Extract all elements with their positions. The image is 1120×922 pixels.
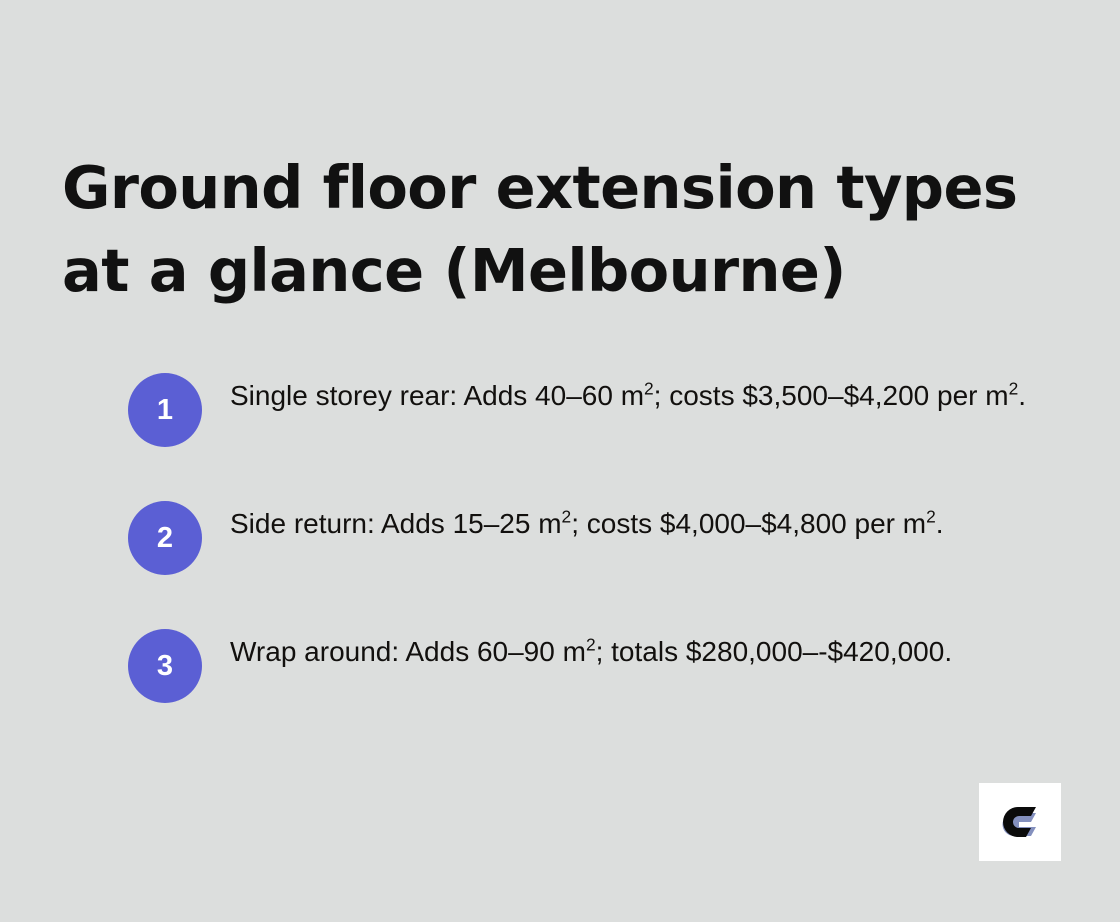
list-item: 1 Single storey rear: Adds 40–60 m2; cos… <box>128 372 1063 447</box>
superscript-two: 2 <box>562 507 572 527</box>
list-item-badge-1: 1 <box>128 373 202 447</box>
list-item-text-3: Wrap around: Adds 60–90 m2; totals $280,… <box>230 628 952 674</box>
list-item-text-2: Side return: Adds 15–25 m2; costs $4,000… <box>230 500 944 546</box>
list-item-text-1: Single storey rear: Adds 40–60 m2; costs… <box>230 372 1026 418</box>
item-text-part: Single storey rear: Adds 40–60 m <box>230 380 644 411</box>
superscript-two: 2 <box>926 507 936 527</box>
superscript-two: 2 <box>1009 379 1019 399</box>
list-item-badge-3: 3 <box>128 629 202 703</box>
superscript-two: 2 <box>644 379 654 399</box>
item-text-part: ; costs $3,500–$4,200 per m <box>654 380 1009 411</box>
list-item: 3 Wrap around: Adds 60–90 m2; totals $28… <box>128 628 1063 703</box>
page-title: Ground floor extension types at a glance… <box>62 146 1042 314</box>
list-item: 2 Side return: Adds 15–25 m2; costs $4,0… <box>128 500 1063 575</box>
item-text-part: ; totals $280,000–-$420,000 <box>596 636 945 667</box>
item-text-part: . <box>1018 380 1026 411</box>
list-item-badge-2: 2 <box>128 501 202 575</box>
numbered-list: 1 Single storey rear: Adds 40–60 m2; cos… <box>128 372 1063 703</box>
brand-logo-icon <box>998 803 1042 841</box>
item-text-part: Wrap around: Adds 60–90 m <box>230 636 586 667</box>
superscript-two: 2 <box>586 635 596 655</box>
item-text-part: Side return: Adds 15–25 m <box>230 508 562 539</box>
item-text-part: . <box>936 508 944 539</box>
infographic-canvas: Ground floor extension types at a glance… <box>0 0 1120 922</box>
item-text-part: ; costs $4,000–$4,800 per m <box>571 508 926 539</box>
logo-card <box>979 783 1061 861</box>
item-text-part: . <box>944 636 952 667</box>
